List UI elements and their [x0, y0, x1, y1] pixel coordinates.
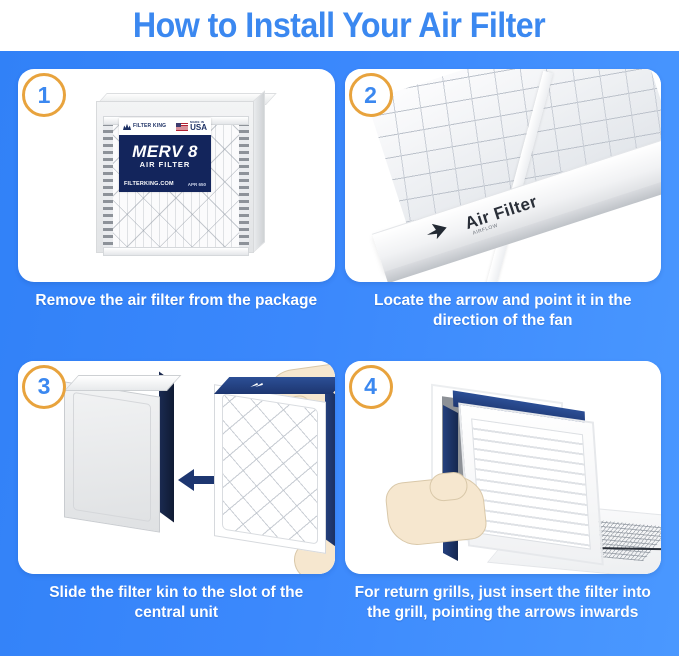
grill-door	[458, 402, 604, 565]
slot-opening	[159, 371, 174, 522]
filter-mesh-pattern	[222, 393, 318, 544]
step-2-caption: Locate the arrow and point it in the dir…	[345, 291, 662, 331]
air-filter-product-image: FILTER KING MADE IN USA	[96, 93, 268, 261]
hand-holding-filter	[383, 474, 487, 548]
step-4-number-badge: 4	[349, 365, 393, 409]
country-label: USA	[190, 124, 207, 132]
filter-frame-left	[103, 116, 113, 256]
label-main-panel: MERV 8 AIR FILTER	[119, 135, 211, 176]
central-unit-slot	[64, 375, 176, 525]
filter-mesh-face	[214, 384, 326, 554]
step-1-illustration: FILTER KING MADE IN USA	[18, 69, 335, 282]
made-in-usa-mark: MADE IN USA	[176, 121, 207, 132]
unit-panel-inset	[73, 391, 151, 521]
step-1-caption: Remove the air filter from the package	[18, 291, 335, 311]
header-band: How to Install Your Air Filter	[0, 0, 679, 51]
unit-front-panel	[64, 381, 160, 532]
step-3-number: 3	[38, 375, 51, 398]
filter-arrow-marks: ▸▸	[247, 380, 273, 389]
step-3-illustration: ▸▸	[18, 361, 335, 574]
brand-name: FILTER KING	[133, 124, 166, 129]
filter-frame-bottom	[103, 247, 249, 256]
step-1-number-badge: 1	[22, 73, 66, 117]
step-1-card: FILTER KING MADE IN USA	[18, 69, 335, 282]
step-2: Air Filter AIRFLOW 2 Locate the arrow an…	[345, 69, 662, 357]
steps-grid: FILTER KING MADE IN USA	[0, 51, 679, 656]
merv-rating: MERV 8	[132, 143, 198, 160]
step-4: ▸▸ 4 For return grills, just insert the …	[345, 361, 662, 649]
website-url: FILTERKING.COM	[124, 181, 174, 187]
apr-rating: APR 650	[188, 182, 206, 187]
filter-king-logo: FILTER KING	[123, 123, 166, 130]
crown-icon	[123, 123, 131, 130]
louver-slats	[471, 418, 591, 549]
step-2-card: Air Filter AIRFLOW 2	[345, 69, 662, 282]
step-4-number: 4	[364, 375, 377, 398]
step-1: FILTER KING MADE IN USA	[18, 69, 335, 357]
product-subtitle: AIR FILTER	[140, 160, 191, 170]
step-1-number: 1	[38, 84, 51, 107]
step-3-caption: Slide the filter kin to the slot of the …	[18, 583, 335, 623]
step-3-card: ▸▸ 3	[18, 361, 335, 574]
filter-frame-right	[239, 116, 249, 256]
filter-side-frame	[325, 386, 335, 550]
filter-top-frame: ▸▸	[214, 377, 335, 394]
filter-label: FILTER KING MADE IN USA	[119, 118, 211, 192]
label-footer-row: FILTERKING.COM APR 650	[119, 176, 211, 192]
usa-flag-icon	[176, 123, 188, 131]
infographic-page: How to Install Your Air Filter	[0, 0, 679, 656]
page-title: How to Install Your Air Filter	[133, 7, 545, 45]
step-3: ▸▸ 3 Slide the filter kin to the slot of…	[18, 361, 335, 649]
filter-being-inserted: ▸▸	[214, 377, 335, 557]
filter-right-edge	[253, 90, 265, 253]
step-2-number: 2	[364, 84, 377, 107]
step-4-caption: For return grills, just insert the filte…	[345, 583, 662, 623]
step-2-number-badge: 2	[349, 73, 393, 117]
step-3-number-badge: 3	[22, 365, 66, 409]
label-header-row: FILTER KING MADE IN USA	[119, 118, 211, 135]
made-in-usa-text: MADE IN USA	[190, 121, 207, 132]
filter-body: FILTER KING MADE IN USA	[96, 101, 254, 253]
step-4-card: ▸▸ 4	[345, 361, 662, 574]
unit-top-surface	[64, 375, 181, 391]
